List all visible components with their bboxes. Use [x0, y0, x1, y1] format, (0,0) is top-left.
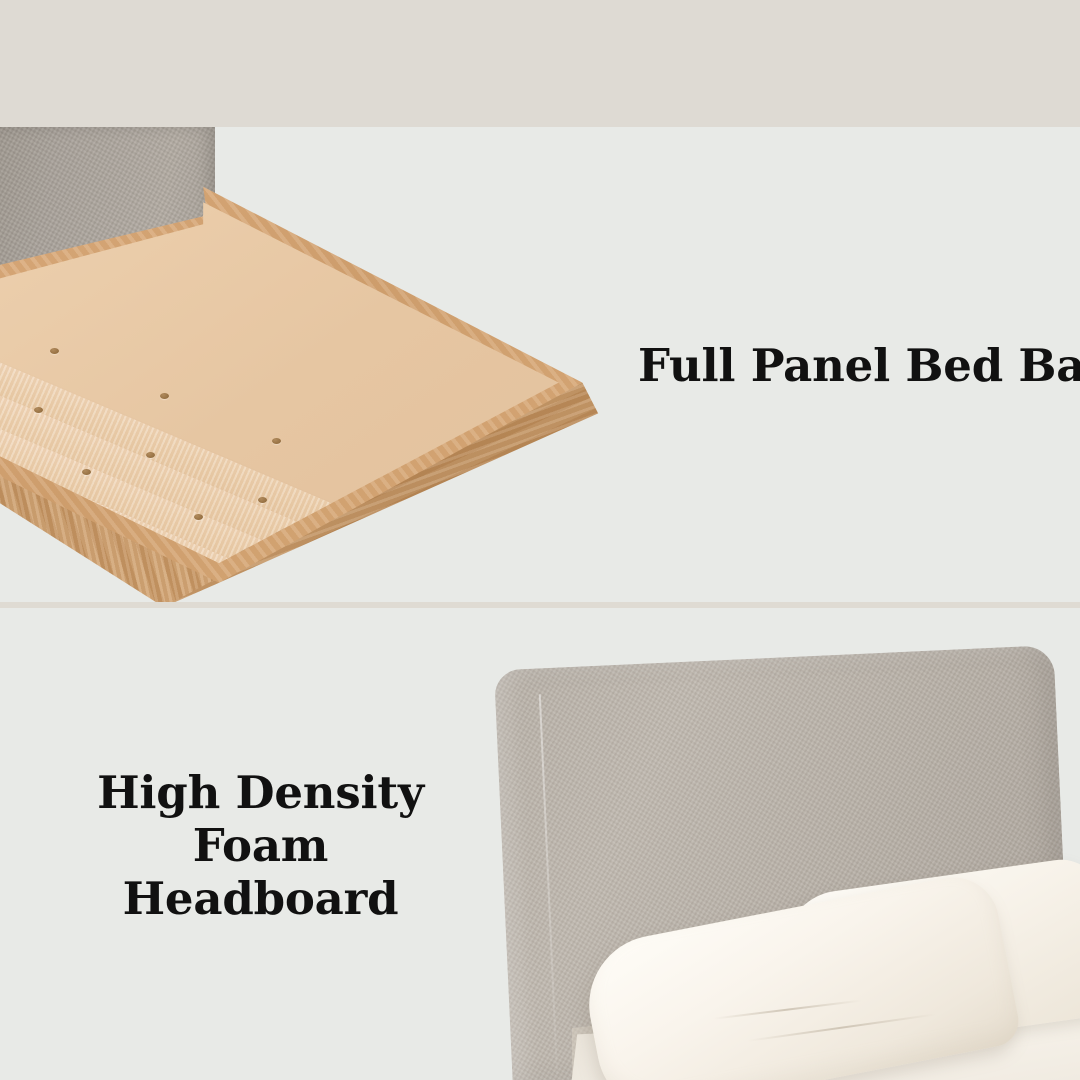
- screw-head: [194, 514, 203, 520]
- label-line-2: Foam Headboard: [88, 819, 433, 925]
- label-full-panel-bed-base: Full Panel Bed Base: [638, 340, 1080, 392]
- label-high-density-foam-headboard: High Density Foam Headboard: [88, 766, 433, 925]
- feature-collage: Full Panel Bed Base High Density Foam He…: [0, 0, 1080, 1080]
- screw-head: [240, 574, 249, 580]
- screw-head: [146, 452, 155, 458]
- pillow-crease: [713, 1000, 862, 1020]
- label-line-1: High Density: [88, 766, 433, 819]
- platform-bed-base: [0, 167, 610, 603]
- screw-head: [272, 438, 281, 444]
- top-color-band: [0, 0, 1080, 127]
- screw-head: [50, 348, 59, 354]
- screw-head: [370, 541, 379, 547]
- pillow-crease: [748, 1013, 936, 1041]
- screw-head: [34, 407, 43, 413]
- screw-head: [306, 559, 315, 565]
- screw-head: [160, 393, 169, 399]
- screw-head: [82, 469, 91, 475]
- screw-head: [258, 497, 267, 503]
